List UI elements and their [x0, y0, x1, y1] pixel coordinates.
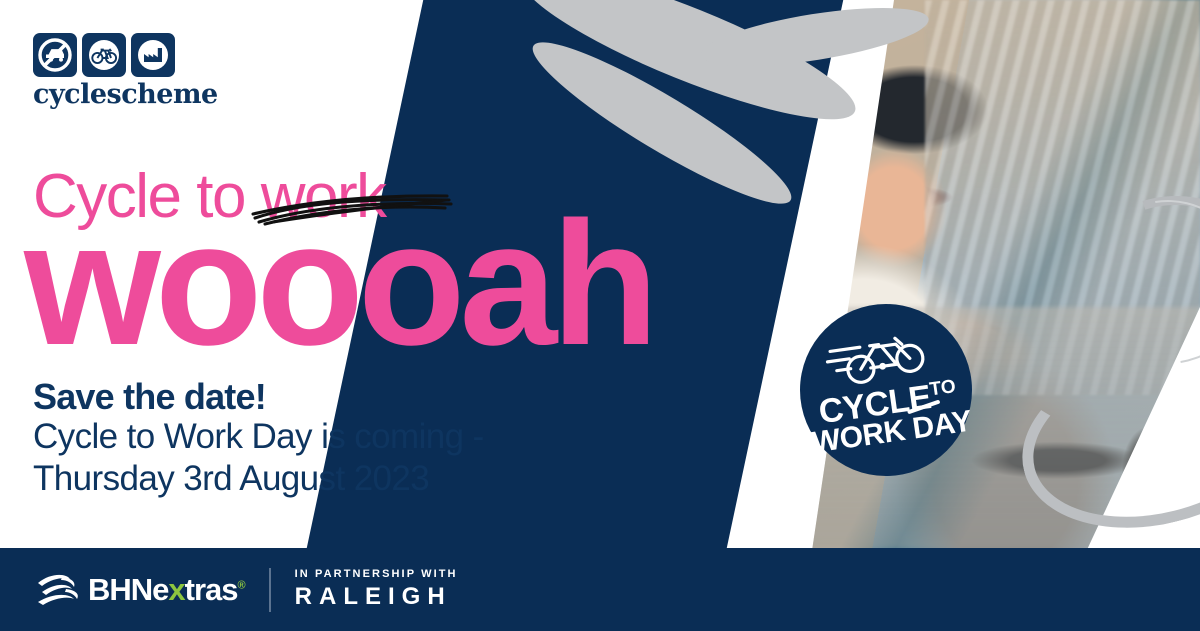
bhn-swoosh-icon: [36, 571, 86, 609]
event-line-2: Thursday 3rd August 2023: [33, 458, 484, 501]
save-the-date-heading: Save the date!: [33, 378, 484, 416]
partnership-label: IN PARTNERSHIP WITH: [295, 568, 458, 581]
registered-mark: ®: [238, 580, 245, 592]
headline-shout: woooah: [24, 196, 653, 372]
partner-footer-bar: BHNextras® IN PARTNERSHIP WITH RALEIGH: [0, 548, 1200, 631]
extras-x-text: x: [168, 572, 184, 607]
cycle-to-work-day-banner: cyclescheme Cycle to work woooah Save th…: [0, 0, 1200, 631]
save-the-date-block: Save the date! Cycle to Work Day is comi…: [33, 378, 484, 501]
bhn-extras-logo[interactable]: BHNextras®: [36, 571, 245, 609]
bicycle-icon: [82, 33, 126, 77]
cyclescheme-logo[interactable]: cyclescheme: [33, 33, 181, 108]
no-car-icon: [33, 33, 77, 77]
logo-icon-tiles: [33, 33, 181, 77]
extras-e-text: e: [152, 572, 168, 607]
partner-name: RALEIGH: [295, 583, 458, 611]
partner-block: IN PARTNERSHIP WITH RALEIGH: [295, 568, 458, 611]
cyclescheme-wordmark: cyclescheme: [33, 81, 181, 108]
bhn-text: BHN: [88, 572, 152, 607]
factory-icon: [131, 33, 175, 77]
cycle-to-work-day-badge: CYCLETO WORK DAY: [800, 304, 972, 476]
bhn-extras-wordmark: BHNextras®: [88, 574, 245, 605]
event-line-1: Cycle to Work Day is coming -: [33, 416, 484, 459]
extras-suffix-text: tras: [185, 572, 238, 607]
footer-divider: [269, 568, 271, 612]
badge-to-text: TO: [928, 376, 957, 400]
badge-inner: CYCLETO WORK DAY: [789, 293, 983, 487]
